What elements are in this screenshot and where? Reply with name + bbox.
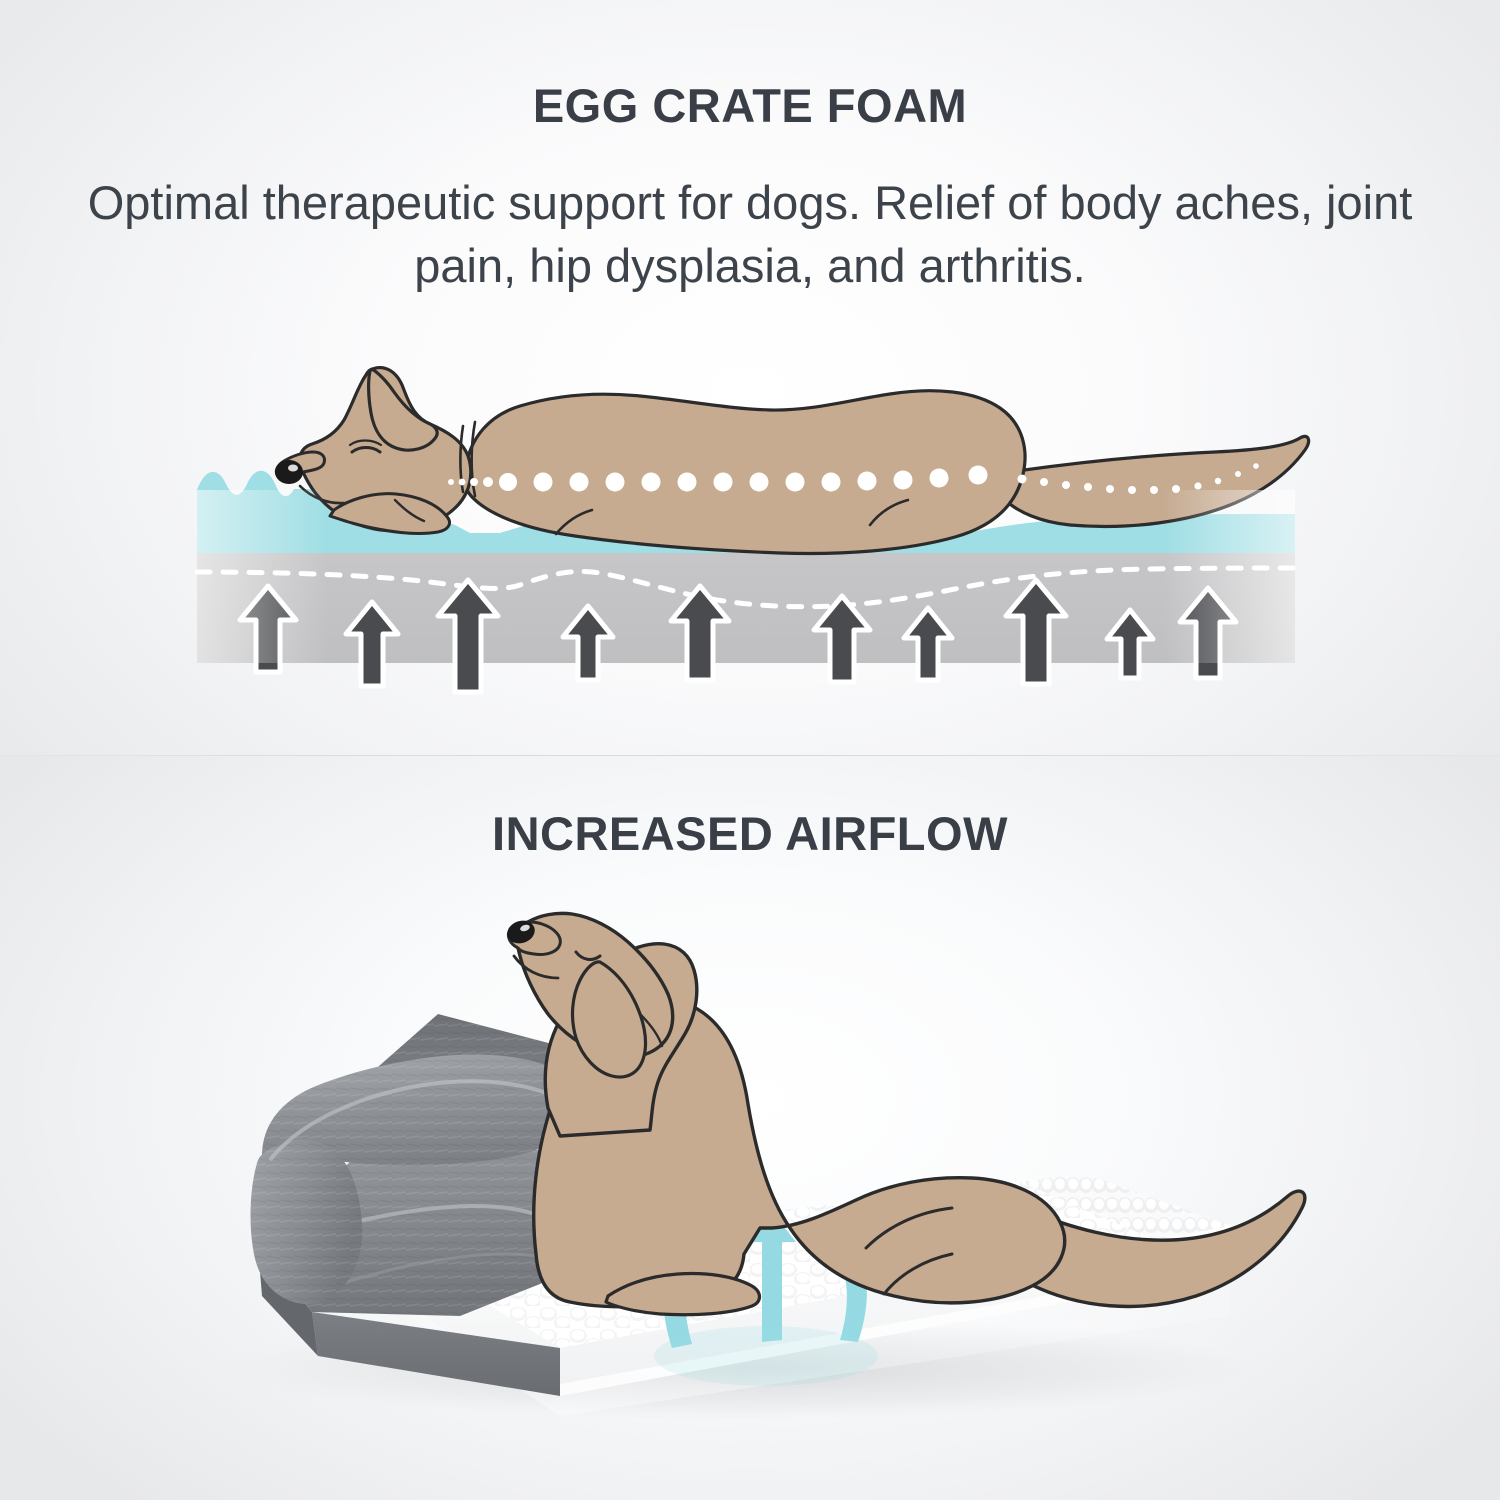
dog-bed-illustration-bottom <box>0 756 1500 1500</box>
panel-increased-airflow: INCREASED AIRFLOW <box>0 756 1500 1500</box>
bed-arm-texture <box>251 1139 363 1304</box>
cutaway-illustration-top <box>0 0 1500 756</box>
dog-nose <box>275 460 303 484</box>
airflow-haze <box>654 1326 878 1386</box>
infographic-page: EGG CRATE FOAM Optimal therapeutic suppo… <box>0 0 1500 1500</box>
dog-illustration-sitting <box>504 913 1305 1314</box>
dog-nose-highlight <box>288 465 298 472</box>
panel-egg-crate-foam: EGG CRATE FOAM Optimal therapeutic suppo… <box>0 0 1500 756</box>
dog-tail <box>1005 436 1309 526</box>
